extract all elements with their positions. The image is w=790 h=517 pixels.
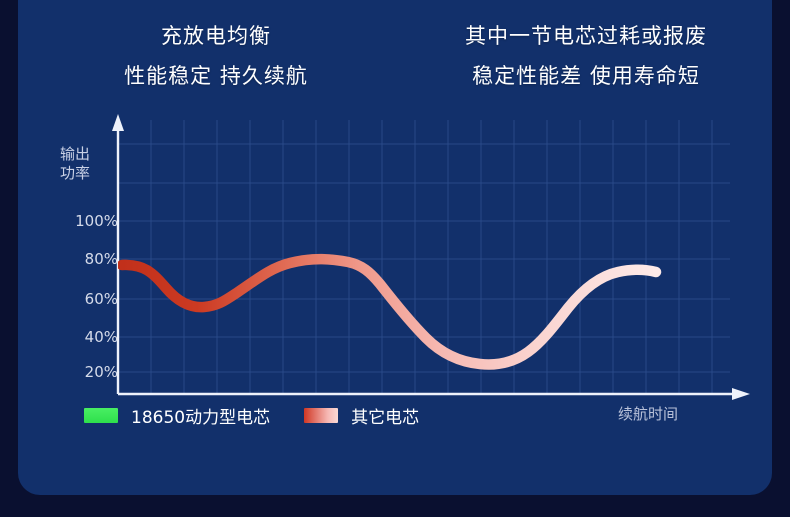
legend-item-18650[interactable]: 18650动力型电芯 <box>84 403 270 428</box>
chart-panel: 充放电均衡 性能稳定 持久续航 其中一节电芯过耗或报废 稳定性能差 使用寿命短 <box>18 0 772 495</box>
legend-swatch-red-icon <box>304 408 338 423</box>
grid-vertical <box>151 120 712 394</box>
legend-swatch-green-icon <box>84 408 118 423</box>
y-tick-60: 60% <box>54 292 118 307</box>
series-line-other-cells <box>122 259 656 364</box>
axis-lines <box>118 128 740 394</box>
y-tick-100: 100% <box>54 214 118 229</box>
power-output-chart: 输出 功率 100% 80% 60% 40% 20% 续航时间 18650动力型… <box>18 0 772 495</box>
arrow-right-icon <box>732 388 750 400</box>
legend-label-18650: 18650动力型电芯 <box>131 403 270 428</box>
legend-label-other-cells: 其它电芯 <box>351 403 419 428</box>
y-tick-40: 40% <box>54 330 118 345</box>
y-tick-80: 80% <box>54 252 118 267</box>
legend-item-other-cells[interactable]: 其它电芯 <box>304 403 419 428</box>
y-tick-20: 20% <box>54 365 118 380</box>
x-axis-title: 续航时间 <box>618 405 678 424</box>
chart-legend: 18650动力型电芯 其它电芯 <box>84 403 419 428</box>
screenshot-root: 充放电均衡 性能稳定 持久续航 其中一节电芯过耗或报废 稳定性能差 使用寿命短 <box>0 0 790 517</box>
